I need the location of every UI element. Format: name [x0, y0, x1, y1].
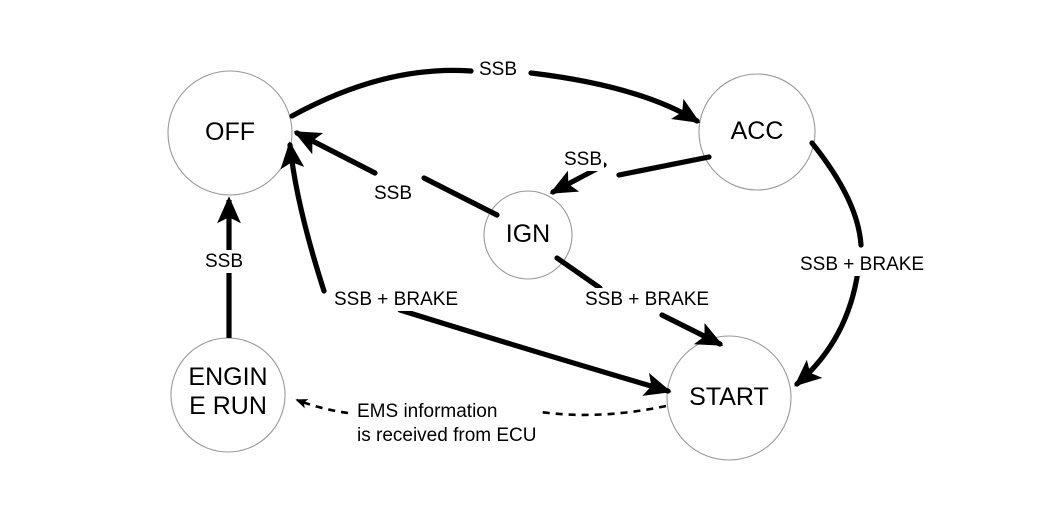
edge-label-acc-ign: SSB [562, 148, 604, 171]
edge-ign-start-seg1[interactable] [557, 258, 600, 288]
state-diagram-canvas: OFF ACC IGN START ENGIN E RUN SSB SSB SS… [0, 0, 1050, 508]
edge-label-start-engine-run: EMS information is received from ECU [355, 400, 539, 448]
edge-ign-off-seg2[interactable] [297, 133, 375, 173]
edge-label-ign-off: SSB [372, 182, 414, 205]
edge-label-start-off: SSB + BRAKE [332, 288, 460, 311]
node-ign[interactable] [484, 191, 572, 279]
edge-ign-off-seg1[interactable] [424, 178, 497, 215]
edge-off-acc-seg1[interactable] [292, 70, 471, 116]
edge-start-engine-run-seg2[interactable] [297, 400, 348, 413]
edge-off-acc-seg2[interactable] [531, 73, 697, 121]
edge-ign-start-seg2[interactable] [662, 315, 720, 344]
edge-start-engine-run-seg1[interactable] [540, 406, 666, 415]
node-off[interactable] [168, 71, 292, 195]
edge-acc-ign-seg1[interactable] [619, 157, 709, 175]
edge-label-acc-start: SSB + BRAKE [798, 253, 926, 276]
edge-label-off-acc: SSB [477, 58, 519, 81]
edge-acc-start-seg1[interactable] [812, 143, 861, 245]
node-engine-run[interactable] [171, 338, 285, 452]
edge-acc-start-seg2[interactable] [797, 271, 858, 384]
edge-start-off-seg2[interactable] [400, 310, 668, 391]
node-acc[interactable] [699, 74, 815, 190]
node-start[interactable] [667, 336, 791, 460]
edge-label-ign-start: SSB + BRAKE [583, 288, 711, 311]
edge-start-off-seg1[interactable] [290, 145, 324, 291]
edge-label-engine-run-off: SSB [203, 250, 245, 273]
